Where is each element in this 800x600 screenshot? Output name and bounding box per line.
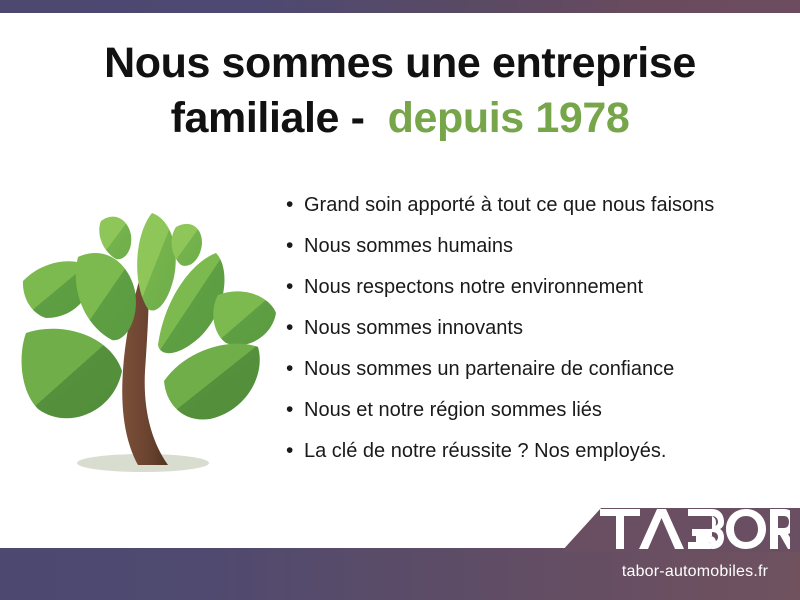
title-plain-part: familiale [171, 94, 339, 142]
page-title: Nous sommes une entreprise familiale - d… [60, 36, 740, 146]
logo-website-label[interactable]: tabor-automobiles.fr [600, 563, 790, 581]
tree-illustration [18, 185, 283, 485]
bullet-dot-icon: • [282, 436, 304, 466]
bullet-dot-icon: • [282, 231, 304, 261]
list-item: • Nous et notre région sommes liés [282, 395, 782, 436]
feature-bullet-list: • Grand soin apporté à tout ce que nous … [282, 190, 782, 477]
list-item: • Nous sommes innovants [282, 313, 782, 354]
slide-canvas: Nous sommes une entreprise familiale - d… [0, 0, 800, 600]
bullet-dot-icon: • [282, 313, 304, 343]
list-item: • Nous sommes un partenaire de confiance [282, 354, 782, 395]
leaf-top-small-right [172, 224, 202, 266]
leaf-right-lower [164, 344, 260, 420]
list-item-label: La clé de notre réussite ? Nos employés. [304, 436, 666, 466]
bullet-dot-icon: • [282, 395, 304, 425]
leaf-left-lower [22, 329, 122, 418]
list-item-label: Nous respectons notre environnement [304, 272, 643, 302]
title-line-1: Nous sommes une entreprise [60, 36, 740, 91]
tree-leaves [22, 213, 276, 420]
list-item-label: Nous sommes innovants [304, 313, 523, 343]
bullet-dot-icon: • [282, 354, 304, 384]
tabor-logo[interactable] [600, 509, 790, 549]
list-item-label: Nous sommes un partenaire de confiance [304, 354, 674, 384]
title-line-2: familiale - depuis 1978 [60, 91, 740, 146]
leaf-right-outer [213, 291, 276, 345]
list-item: • Nous sommes humains [282, 231, 782, 272]
tabor-wordmark-glyphs [600, 509, 790, 549]
list-item-label: Nous et notre région sommes liés [304, 395, 602, 425]
list-item-label: Grand soin apporté à tout ce que nous fa… [304, 190, 714, 220]
list-item-label: Nous sommes humains [304, 231, 513, 261]
title-accent-part: depuis 1978 [388, 94, 630, 142]
leaf-top-center [137, 213, 176, 311]
bullet-dot-icon: • [282, 190, 304, 220]
leaf-left-mid [76, 253, 136, 340]
top-brand-band [0, 0, 800, 13]
bullet-dot-icon: • [282, 272, 304, 302]
leaf-top-small-left [99, 217, 131, 260]
list-item: • Nous respectons notre environnement [282, 272, 782, 313]
title-space [365, 94, 388, 142]
title-dash [339, 94, 351, 142]
list-item: • Grand soin apporté à tout ce que nous … [282, 190, 782, 231]
list-item: • La clé de notre réussite ? Nos employé… [282, 436, 782, 477]
title-dash-glyph: - [351, 94, 365, 142]
